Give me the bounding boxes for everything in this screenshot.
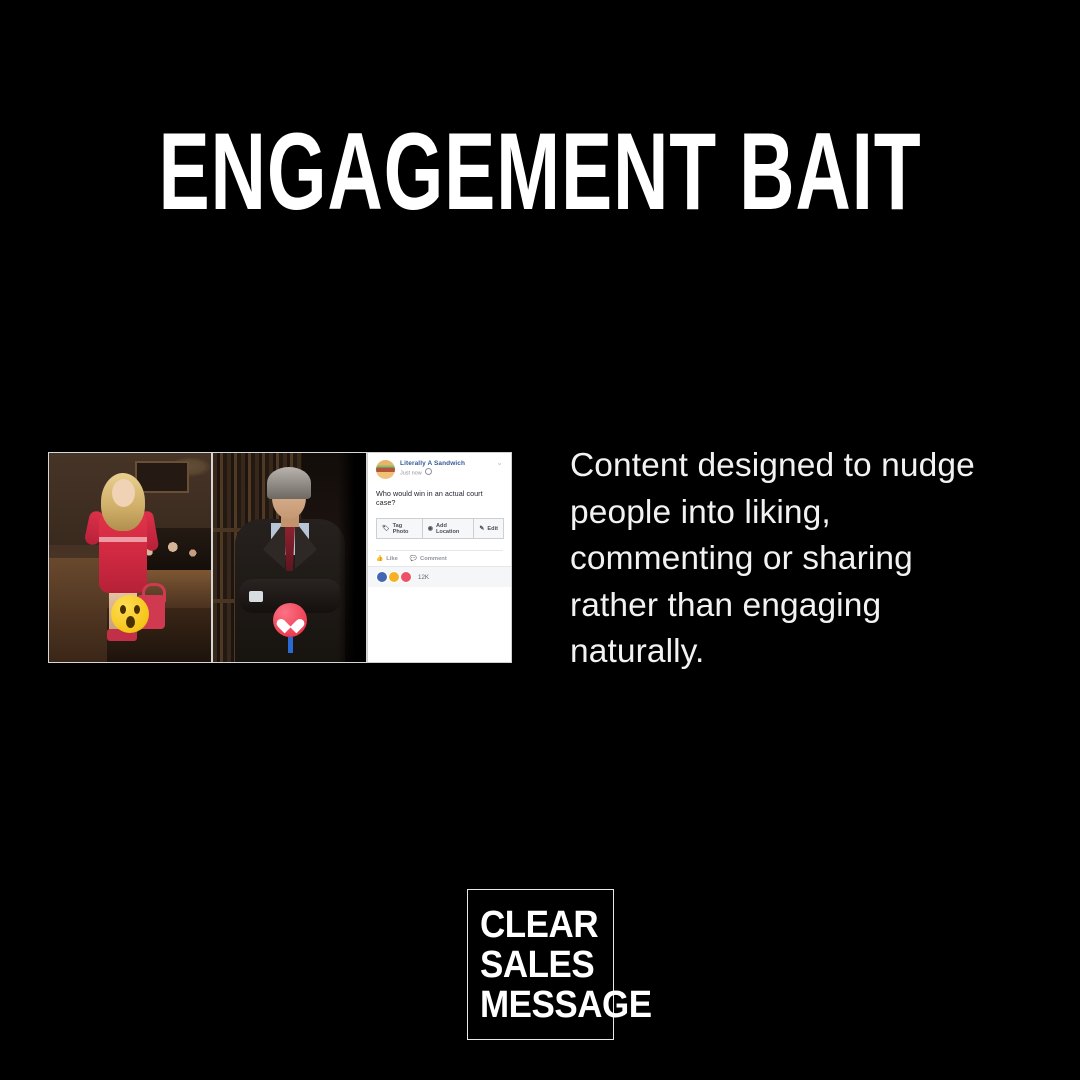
wow-eye-right-icon xyxy=(134,605,140,614)
wall-frame-decor xyxy=(135,461,189,493)
wow-mouth-icon xyxy=(126,616,135,628)
body-text: Content designed to nudge people into li… xyxy=(570,443,1010,676)
love-reaction-bubble-icon xyxy=(400,571,412,583)
man-shirt-cuff xyxy=(249,591,263,602)
thumbs-up-icon: 👍 xyxy=(376,556,383,562)
facebook-post-pane: Literally A Sandwich Just now ⌄ Who woul… xyxy=(367,452,512,663)
reaction-count: 12K xyxy=(418,574,429,581)
example-screenshot-card: Literally A Sandwich Just now ⌄ Who woul… xyxy=(48,452,512,663)
logo-line-2: SALES xyxy=(480,945,594,985)
edit-button[interactable]: ✎ Edit xyxy=(473,518,504,539)
heart-icon xyxy=(282,613,299,628)
wow-emoji-icon xyxy=(111,595,149,633)
photo-suited-man xyxy=(212,452,367,663)
brand-logo: CLEAR SALES MESSAGE xyxy=(467,889,614,1040)
like-label: Like xyxy=(386,556,398,562)
add-location-button[interactable]: ◉ Add Location xyxy=(422,518,475,539)
reaction-pin-stem xyxy=(288,637,293,653)
tag-icon: 🏷 xyxy=(382,526,390,532)
photo-courtroom-woman xyxy=(48,452,212,663)
post-identity: Literally A Sandwich Just now xyxy=(400,460,465,477)
facebook-post: Literally A Sandwich Just now ⌄ Who woul… xyxy=(368,453,511,662)
photo-shadow-vignette xyxy=(338,453,366,662)
chevron-down-icon[interactable]: ⌄ xyxy=(496,460,503,466)
add-location-label: Add Location xyxy=(436,523,468,535)
post-timestamp: Just now xyxy=(400,471,422,477)
post-message: Who would win in an actual court case? xyxy=(376,489,503,507)
comment-label: Comment xyxy=(420,556,447,562)
page-title: ENGAGEMENT BAIT xyxy=(108,118,972,227)
globe-icon xyxy=(425,468,432,475)
woman-face xyxy=(112,479,135,507)
post-author-name[interactable]: Literally A Sandwich xyxy=(400,460,465,467)
post-reaction-summary[interactable]: 12K xyxy=(368,566,511,587)
pencil-icon: ✎ xyxy=(479,526,484,532)
like-action[interactable]: 👍 Like xyxy=(376,556,398,562)
post-timestamp-row: Just now xyxy=(400,468,465,477)
tag-photo-button[interactable]: 🏷 Tag Photo xyxy=(376,518,423,539)
comment-bubble-icon: 💬 xyxy=(410,556,417,562)
comment-action[interactable]: 💬 Comment xyxy=(410,556,447,562)
edit-label: Edit xyxy=(487,526,498,532)
avatar xyxy=(376,460,395,479)
love-reaction-pin xyxy=(273,603,307,637)
location-pin-icon: ◉ xyxy=(428,526,433,532)
post-header: Literally A Sandwich Just now ⌄ xyxy=(376,460,503,479)
man-hair xyxy=(267,467,311,499)
woman-dress-belt xyxy=(99,537,147,542)
wow-emoji-pin xyxy=(111,595,149,633)
like-reaction-icon xyxy=(376,571,388,583)
tag-photo-label: Tag Photo xyxy=(393,523,417,535)
post-action-bar: 👍 Like 💬 Comment xyxy=(376,550,503,562)
logo-line-1: CLEAR xyxy=(480,905,598,945)
logo-line-3: MESSAGE xyxy=(480,985,652,1025)
post-tool-row: 🏷 Tag Photo ◉ Add Location ✎ Edit xyxy=(376,518,503,539)
haha-reaction-icon xyxy=(388,571,400,583)
wow-eye-left-icon xyxy=(120,605,126,614)
love-reaction-icon xyxy=(273,603,307,637)
slide-canvas: ENGAGEMENT BAIT xyxy=(0,0,1080,1080)
